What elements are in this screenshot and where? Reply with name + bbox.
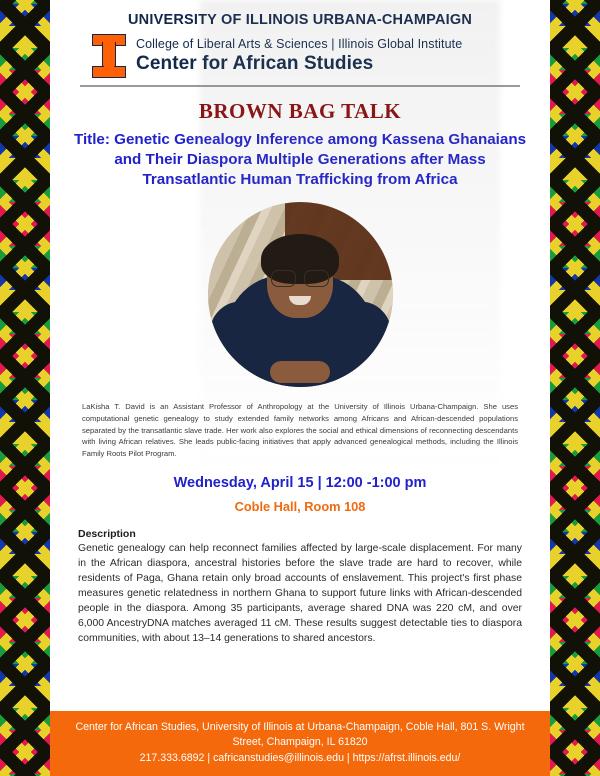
flyer-footer: Center for African Studies, University o… [50, 711, 550, 776]
speaker-portrait [208, 202, 393, 387]
flyer-header: UNIVERSITY OF ILLINOIS URBANA-CHAMPAIGN … [50, 0, 550, 87]
event-kicker: BROWN BAG TALK [50, 99, 550, 124]
header-divider [80, 85, 520, 87]
header-identity-row: College of Liberal Arts & Sciences | Ill… [50, 34, 550, 78]
event-datetime: Wednesday, April 15 | 12:00 -1:00 pm [50, 475, 550, 491]
header-text-group: College of Liberal Arts & Sciences | Ill… [136, 37, 462, 75]
illinois-block-i-icon [92, 34, 126, 78]
description-heading: Description [78, 528, 522, 540]
footer-contact: 217.333.6892 | cafricanstudies@illinois.… [64, 751, 536, 766]
kente-border-right [550, 0, 600, 776]
speaker-bio: LaKisha T. David is an Assistant Profess… [82, 401, 518, 460]
center-name: Center for African Studies [136, 53, 462, 75]
description-section: Description Genetic genealogy can help r… [78, 528, 522, 647]
footer-address: Center for African Studies, University o… [64, 720, 536, 751]
college-line: College of Liberal Arts & Sciences | Ill… [136, 37, 462, 51]
university-name: UNIVERSITY OF ILLINOIS URBANA-CHAMPAIGN [50, 12, 550, 28]
portrait-container [50, 202, 550, 387]
kente-border-left [0, 0, 50, 776]
flyer-page: UNIVERSITY OF ILLINOIS URBANA-CHAMPAIGN … [0, 0, 600, 776]
description-body: Genetic genealogy can help reconnect fam… [78, 541, 522, 647]
event-title: Title: Genetic Genealogy Inference among… [68, 130, 532, 190]
content-column: UNIVERSITY OF ILLINOIS URBANA-CHAMPAIGN … [50, 0, 550, 776]
event-location: Coble Hall, Room 108 [50, 499, 550, 514]
